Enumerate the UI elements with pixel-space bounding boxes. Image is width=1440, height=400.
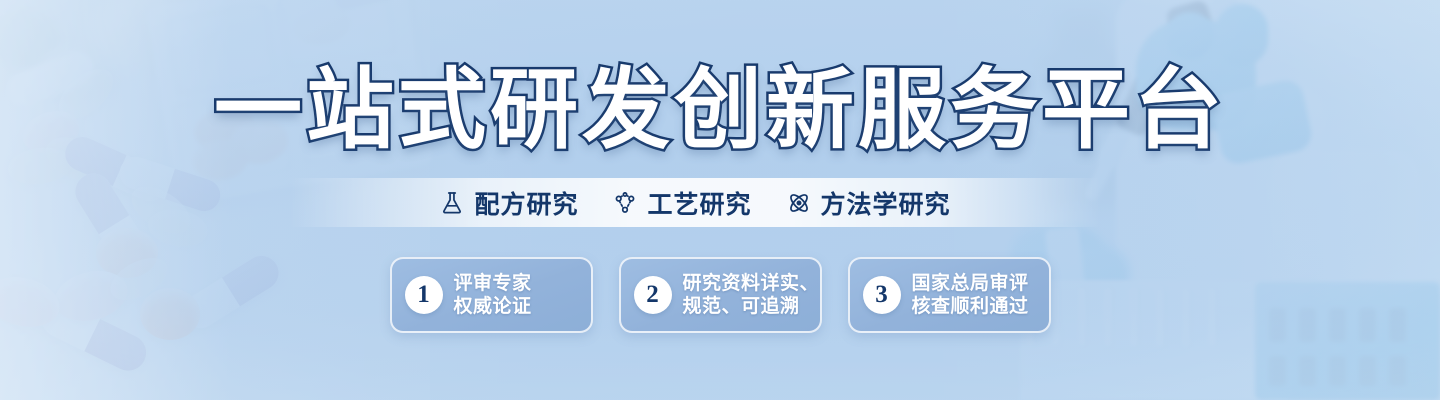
hero-banner: 一站式研发创新服务平台 配方研究	[0, 0, 1440, 400]
card-text: 评审专家 权威论证	[454, 272, 532, 318]
page-title-text: 一站式研发创新服务平台	[214, 63, 1226, 160]
card-number-badge: 2	[634, 276, 672, 314]
service-tag-label: 方法学研究	[821, 185, 951, 221]
card-line-2: 规范、可追溯	[683, 295, 820, 318]
service-tag-process[interactable]: 工艺研究	[612, 185, 751, 221]
feature-card-2[interactable]: 2 研究资料详实、 规范、可追溯	[619, 257, 822, 333]
service-tag-label: 工艺研究	[647, 185, 751, 221]
card-text: 国家总局审评 核查顺利通过	[912, 272, 1029, 318]
banner-content: 一站式研发创新服务平台 配方研究	[0, 0, 1440, 400]
card-number-badge: 3	[863, 276, 901, 314]
card-line-1: 研究资料详实、	[683, 272, 820, 295]
feature-card-1[interactable]: 1 评审专家 权威论证	[390, 257, 593, 333]
card-line-2: 核查顺利通过	[912, 295, 1029, 318]
card-line-1: 国家总局审评	[912, 272, 1029, 295]
molecule-icon	[612, 190, 638, 216]
service-tag-methodology[interactable]: 方法学研究	[786, 185, 951, 221]
page-title: 一站式研发创新服务平台	[0, 68, 1440, 156]
service-tag-formulation[interactable]: 配方研究	[439, 185, 578, 221]
card-text: 研究资料详实、 规范、可追溯	[683, 272, 820, 318]
service-tag-bar: 配方研究 工艺研究	[290, 178, 1100, 227]
card-number-badge: 1	[405, 276, 443, 314]
card-line-2: 权威论证	[454, 295, 532, 318]
flask-icon	[439, 190, 465, 216]
atom-icon	[786, 190, 812, 216]
service-tag-label: 配方研究	[474, 185, 578, 221]
card-line-1: 评审专家	[454, 272, 532, 295]
feature-card-list: 1 评审专家 权威论证 2 研究资料详实、 规范、可追溯 3 国家总局审评 核查…	[0, 257, 1440, 333]
feature-card-3[interactable]: 3 国家总局审评 核查顺利通过	[848, 257, 1051, 333]
